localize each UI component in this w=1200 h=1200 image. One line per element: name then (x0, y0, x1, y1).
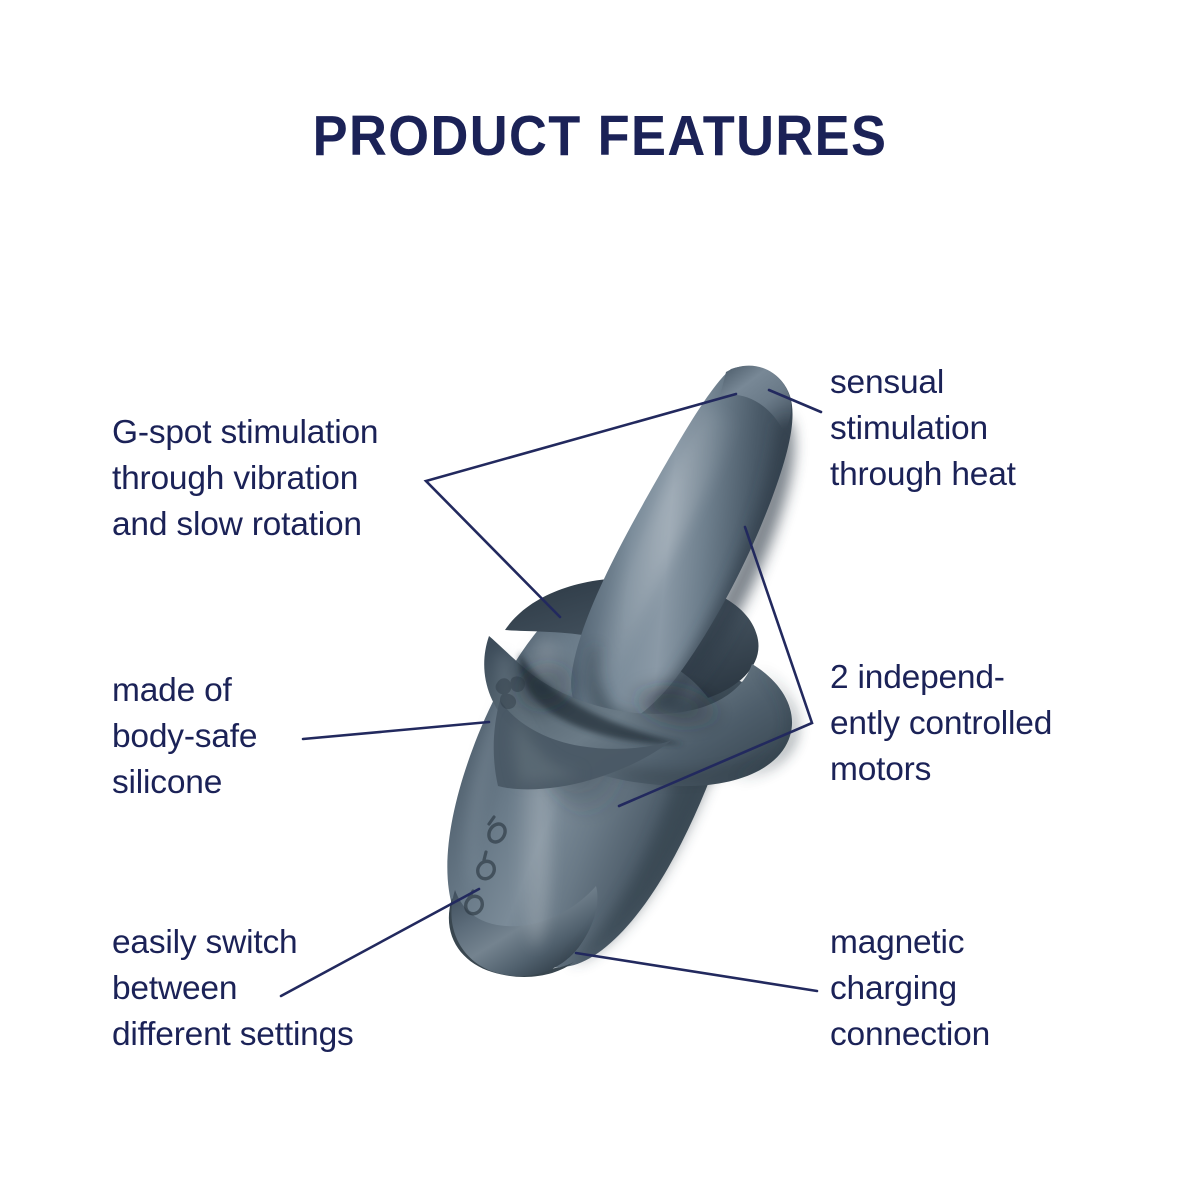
leader-motors (619, 527, 812, 806)
leader-gspot (426, 394, 736, 617)
product-features-infographic: PRODUCT FEATURES (0, 0, 1200, 1200)
callout-heat-stimulation: sensual stimulation through heat (830, 360, 1130, 498)
callout-easily-switch-settings: easily switch between different settings (112, 920, 442, 1058)
callout-independent-motors: 2 independ- ently controlled motors (830, 655, 1120, 793)
leader-heat (769, 390, 821, 412)
leader-charging (576, 953, 817, 991)
callout-magnetic-charging: magnetic charging connection (830, 920, 1110, 1058)
callout-body-safe-silicone: made of body-safe silicone (112, 668, 392, 806)
callout-gspot-stimulation: G-spot stimulation through vibration and… (112, 410, 472, 548)
